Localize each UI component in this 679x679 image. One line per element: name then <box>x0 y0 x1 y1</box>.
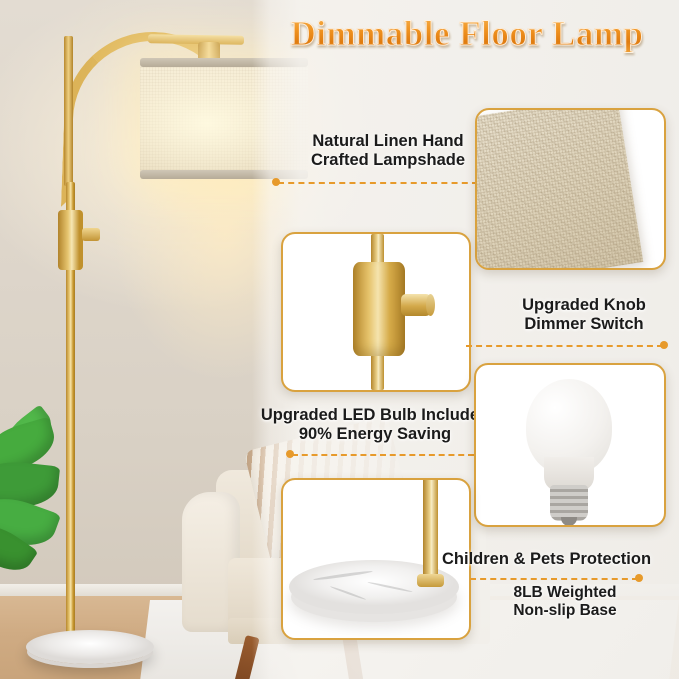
connector-line-base <box>470 578 638 580</box>
callout-pets-line1: Children & Pets Protection <box>442 550 678 569</box>
page-title: Dimmable Floor Lamp <box>262 14 672 54</box>
callout-bulb-line1: Upgraded LED Bulb Included <box>255 406 495 425</box>
callout-knob-line2: Dimmer Switch <box>489 315 679 334</box>
callout-base-line1: 8LB Weighted <box>470 584 660 602</box>
callout-led-bulb: Upgraded LED Bulb Included 90% Energy Sa… <box>255 406 495 445</box>
inset-dimmer-switch <box>281 232 471 392</box>
callout-bulb-line2: 90% Energy Saving <box>255 425 495 444</box>
bulb-screw-base-icon <box>550 485 588 521</box>
dimmer-inset-knob-icon <box>401 294 431 316</box>
callout-weighted-base: 8LB Weighted Non-slip Base <box>470 584 660 621</box>
callout-dimmer-switch: Upgraded Knob Dimmer Switch <box>489 296 679 335</box>
marble-vein <box>367 581 412 593</box>
callout-linen-lampshade: Natural Linen Hand Crafted Lampshade <box>288 132 488 171</box>
inset-led-bulb <box>474 363 666 527</box>
marble-inset-collar <box>417 574 444 587</box>
callout-linen-line1: Natural Linen Hand <box>288 132 488 151</box>
marble-vein <box>330 586 366 601</box>
connector-dot-knob <box>660 341 668 349</box>
callout-knob-line1: Upgraded Knob <box>489 296 679 315</box>
bulb-contact-tip <box>561 517 577 526</box>
marble-vein <box>313 570 373 581</box>
inset-linen-fabric <box>475 108 666 270</box>
marble-inset-pole <box>423 478 438 586</box>
callout-linen-line2: Crafted Lampshade <box>288 151 488 170</box>
callout-base-line2: Non-slip Base <box>470 602 660 620</box>
connector-line-linen <box>278 182 478 184</box>
linen-fabric-swatch <box>475 108 643 270</box>
connector-line-knob <box>466 345 663 347</box>
dimmer-inset-body <box>353 262 405 356</box>
connector-dot-base <box>635 574 643 582</box>
callout-children-pets-protection: Children & Pets Protection <box>442 550 678 569</box>
connector-line-bulb <box>292 454 474 456</box>
product-infographic: Dimmable Floor Lamp Natural Linen Hand C… <box>0 0 679 679</box>
